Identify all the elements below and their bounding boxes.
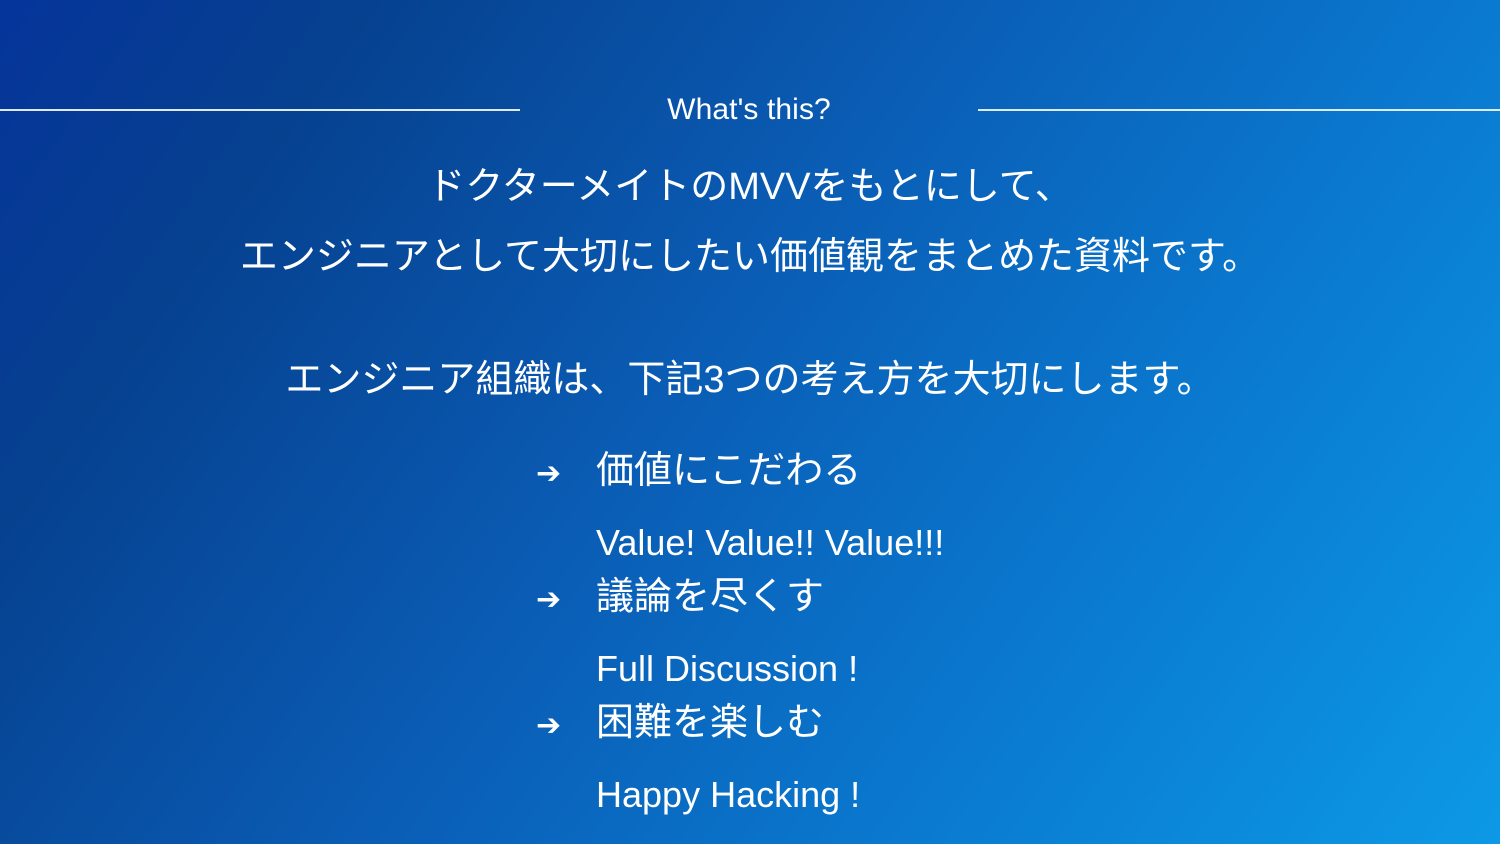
- value-subtitle-1: Value! Value!! Value!!!: [596, 514, 1396, 572]
- value-title-2: 議論を尽くす: [596, 578, 1396, 616]
- value-subtitle-2: Full Discussion !: [596, 640, 1396, 698]
- value-title-3: 困難を楽しむ: [596, 704, 1396, 742]
- value-heading-2: ➔ 議論を尽くす: [536, 578, 1396, 640]
- intro-paragraph: ドクターメイトのMVVをもとにして、 エンジニアとして大切にしたい価値観をまとめ…: [0, 152, 1500, 292]
- value-heading-1: ➔ 価値にこだわる: [536, 452, 1396, 514]
- value-subtitle-3: Happy Hacking !: [596, 766, 1396, 824]
- intro-line-2: エンジニアとして大切にしたい価値観をまとめた資料です。: [0, 222, 1500, 292]
- lead-line: エンジニア組織は、下記3つの考え方を大切にします。: [0, 348, 1500, 412]
- list-item: ➔ 議論を尽くす Full Discussion !: [536, 578, 1396, 698]
- arrow-right-icon: ➔: [536, 585, 596, 615]
- header-rule-left: [0, 109, 520, 111]
- list-item: ➔ 困難を楽しむ Happy Hacking !: [536, 704, 1396, 824]
- slide-canvas: What's this? ドクターメイトのMVVをもとにして、 エンジニアとして…: [0, 0, 1500, 844]
- arrow-right-icon: ➔: [536, 711, 596, 741]
- header-band: What's this?: [0, 84, 1500, 136]
- intro-line-1: ドクターメイトのMVVをもとにして、: [0, 152, 1500, 222]
- header-rule-right: [978, 109, 1500, 111]
- value-title-1: 価値にこだわる: [596, 452, 1396, 490]
- page-title: What's this?: [520, 95, 978, 125]
- lead-statement: エンジニア組織は、下記3つの考え方を大切にします。: [0, 348, 1500, 412]
- list-item: ➔ 価値にこだわる Value! Value!! Value!!!: [536, 452, 1396, 572]
- arrow-right-icon: ➔: [536, 459, 596, 489]
- value-heading-3: ➔ 困難を楽しむ: [536, 704, 1396, 766]
- values-list: ➔ 価値にこだわる Value! Value!! Value!!! ➔ 議論を尽…: [536, 452, 1396, 830]
